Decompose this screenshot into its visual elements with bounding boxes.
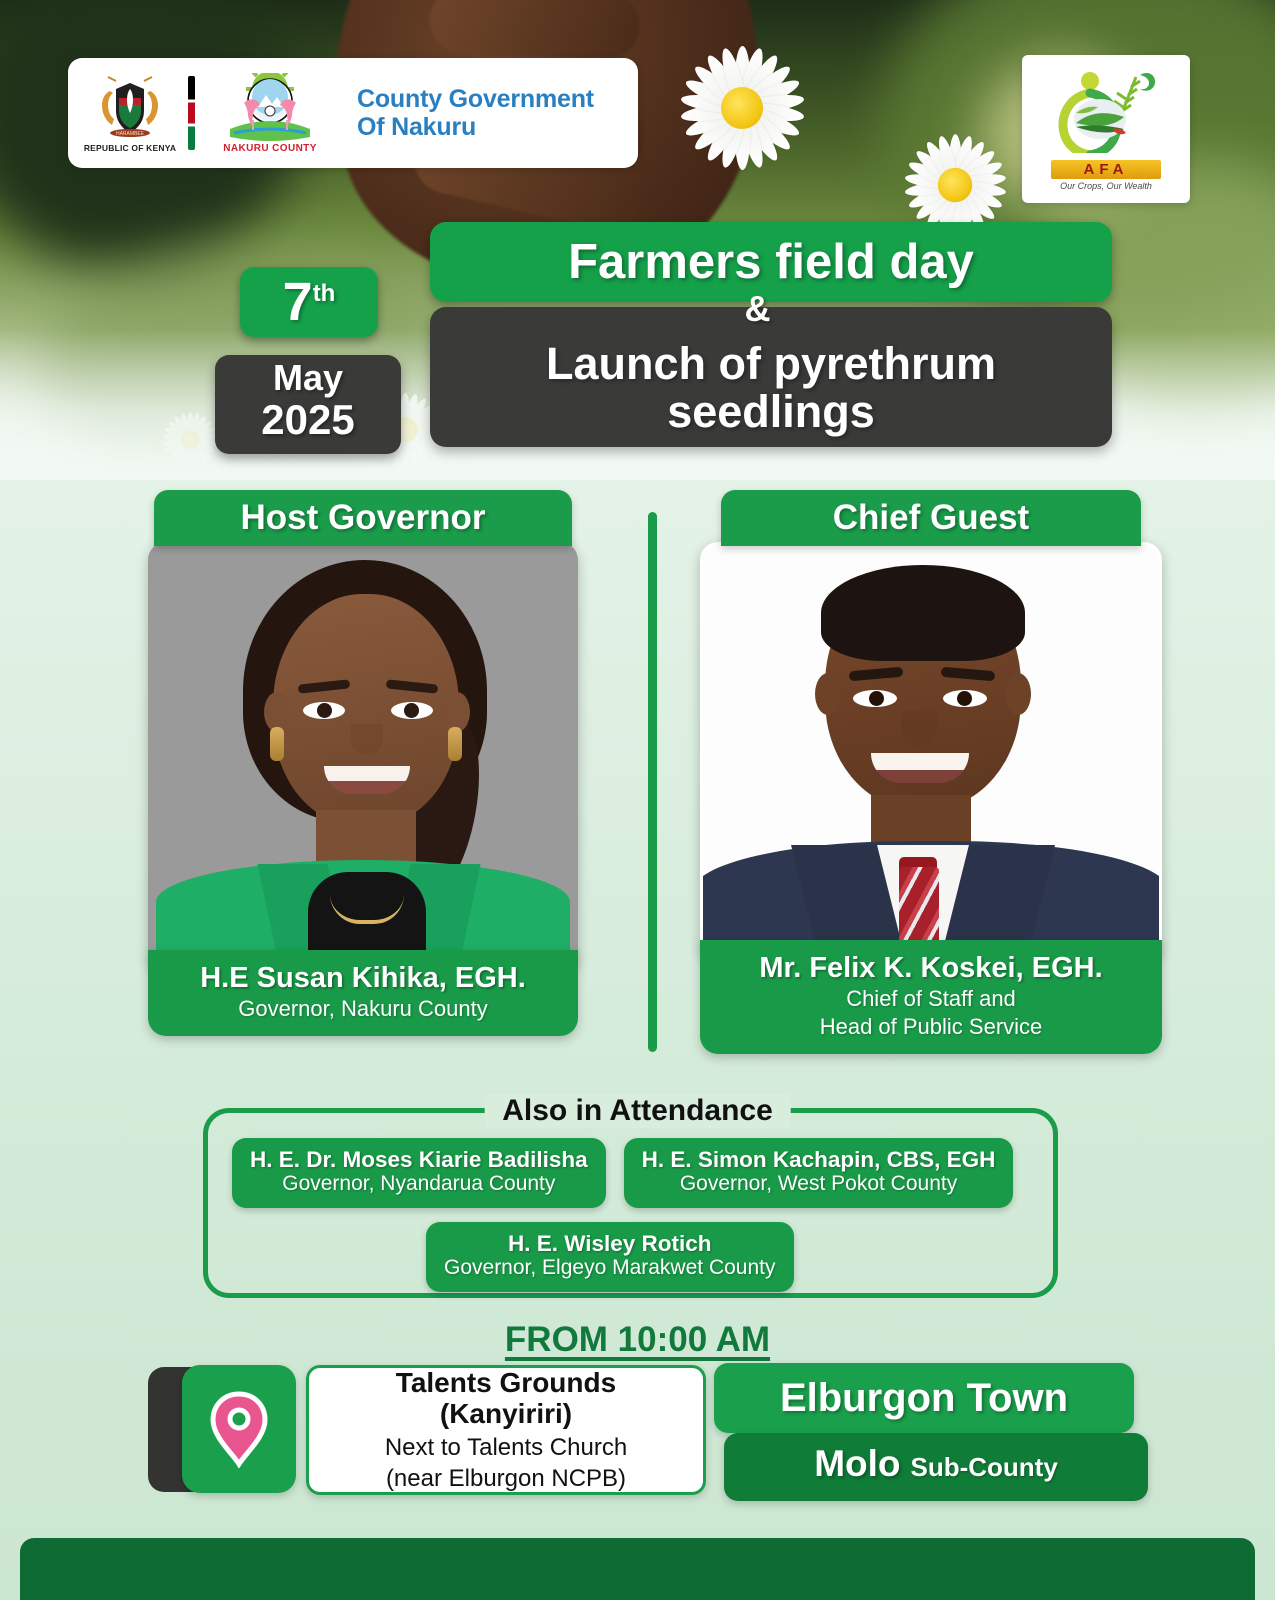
finger-illustration	[429, 0, 641, 60]
flower-petal	[401, 429, 420, 467]
afa-acronym: AFA	[1051, 160, 1161, 179]
flower-petal	[162, 433, 191, 444]
venue-address-card: Talents Grounds (Kanyiriri) Next to Tale…	[306, 1365, 706, 1495]
attendee-name: H. E. Simon Kachapin, CBS, EGH	[642, 1147, 996, 1172]
flower-petal	[179, 439, 193, 468]
ampersand-label: &	[709, 288, 806, 330]
portrait-susan-kihika	[148, 542, 578, 970]
person-name: Mr. Felix K. Koskei, EGH.	[710, 952, 1152, 984]
flower-petal	[163, 437, 191, 455]
flower-petal	[190, 433, 219, 444]
attendance-row-bottom: H. E. Wisley Rotich Governor, Elgeyo Mar…	[426, 1222, 794, 1292]
nakuru-county-emblem: NAKURU COUNTY	[205, 73, 335, 154]
person-name: H.E Susan Kihika, EGH.	[158, 962, 568, 994]
flower-petal	[167, 437, 193, 460]
venue-town: Elburgon Town	[714, 1363, 1134, 1433]
flower-petal	[189, 425, 217, 443]
location-pin-badge	[182, 1365, 296, 1493]
event-day-number: 7	[283, 275, 313, 329]
location-pin-icon	[208, 1390, 270, 1468]
person-title-line2: Head of Public Service	[710, 1014, 1152, 1040]
kenya-flag-divider	[188, 76, 195, 150]
venue-place-line2: (Kanyiriri)	[440, 1398, 572, 1429]
event-title-secondary-line1: Launch of pyrethrum	[546, 340, 996, 389]
venue-near-line1: Next to Talents Church	[385, 1434, 627, 1462]
attendee-name: H. E. Wisley Rotich	[444, 1231, 776, 1256]
afa-tagline: Our Crops, Our Wealth	[1031, 181, 1181, 191]
coat-of-arms-icon: HARAMBEE	[82, 73, 178, 141]
venue-near-line2: (near Elburgon NCPB)	[386, 1465, 626, 1493]
role-label-chief-guest: Chief Guest	[721, 490, 1141, 546]
person-title-line1: Governor, Nakuru County	[158, 996, 568, 1022]
attendee-pill: H. E. Wisley Rotich Governor, Elgeyo Mar…	[426, 1222, 794, 1292]
afa-emblem-icon	[1031, 67, 1181, 158]
flower-petal	[401, 393, 420, 431]
flower-petal	[188, 437, 214, 460]
kenya-coat-of-arms: HARAMBEE REPUBLIC OF KENYA	[82, 73, 178, 153]
also-in-attendance-heading: Also in Attendance	[484, 1094, 791, 1128]
person-card-chief-guest: Chief Guest Mr. Felix K. Koskei, EGH. Ch…	[700, 490, 1162, 1054]
county-government-logo-bar: HARAMBEE REPUBLIC OF KENYA	[68, 58, 638, 168]
person-title-line1: Chief of Staff and	[710, 986, 1152, 1012]
flower-petal	[187, 439, 201, 468]
nameplate-host-governor: H.E Susan Kihika, EGH. Governor, Nakuru …	[148, 950, 578, 1036]
attendee-role: Governor, Nyandarua County	[250, 1172, 588, 1196]
county-government-title: County Government Of Nakuru	[357, 85, 594, 141]
dignitaries-section: Host Governor H.E Susan Kihika, EGH. Gov…	[0, 490, 1275, 1070]
event-date-day-badge: 7 th	[240, 267, 378, 337]
nakuru-emblem-caption: NAKURU COUNTY	[205, 143, 335, 154]
flower-petal	[187, 438, 208, 465]
flower-petal	[167, 419, 193, 442]
flower-petal	[187, 412, 201, 441]
nameplate-chief-guest: Mr. Felix K. Koskei, EGH. Chief of Staff…	[700, 940, 1162, 1054]
venue-subcounty-name: Molo	[814, 1443, 900, 1485]
flower-petal	[187, 440, 194, 468]
flower-petal	[162, 437, 191, 448]
person-card-host-governor: Host Governor H.E Susan Kihika, EGH. Gov…	[148, 490, 578, 1036]
county-government-title-line2: Of Nakuru	[357, 113, 594, 141]
venue-subcounty: Molo Sub-County	[724, 1433, 1148, 1501]
flower-petal	[401, 430, 410, 467]
nakuru-emblem-icon	[205, 73, 335, 143]
flower-petal	[189, 437, 217, 455]
attendee-role: Governor, Elgeyo Marakwet County	[444, 1256, 776, 1280]
footer-bar	[20, 1538, 1255, 1600]
event-date-monthyear-badge: May 2025	[215, 355, 401, 454]
flower-center	[721, 87, 763, 129]
flower-petal	[401, 393, 410, 430]
flower-petal	[172, 438, 193, 465]
afa-logo-box: AFA Our Crops, Our Wealth	[1022, 55, 1190, 203]
role-label-host-governor: Host Governor	[154, 490, 572, 546]
flower-center	[181, 431, 200, 450]
coat-of-arms-caption: REPUBLIC OF KENYA	[82, 143, 178, 153]
flower-petal	[401, 396, 429, 432]
venue-place-line1: Talents Grounds	[396, 1367, 616, 1398]
flower-petal	[187, 412, 194, 440]
flower-petal	[190, 437, 219, 448]
event-start-time: FROM 10:00 AM	[0, 1320, 1275, 1360]
svg-text:HARAMBEE: HARAMBEE	[116, 131, 145, 137]
flower-petal	[163, 425, 191, 443]
attendee-pill: H. E. Dr. Moses Kiarie Badilisha Governo…	[232, 1138, 606, 1208]
venue-section: Talents Grounds (Kanyiriri) Next to Tale…	[148, 1365, 1138, 1500]
event-month: May	[215, 359, 401, 398]
event-year: 2025	[215, 398, 401, 442]
flower-petal	[187, 415, 208, 442]
event-title-secondary-line2: seedlings	[667, 388, 875, 437]
flower-petal	[179, 412, 193, 441]
event-day-ordinal: th	[313, 280, 336, 308]
county-government-title-line1: County Government	[357, 85, 594, 113]
attendance-row-top: H. E. Dr. Moses Kiarie Badilisha Governo…	[232, 1138, 1013, 1208]
flower-center	[938, 168, 972, 202]
portrait-felix-koskei	[700, 542, 1162, 960]
attendee-role: Governor, West Pokot County	[642, 1172, 996, 1196]
flower-petal	[401, 428, 429, 464]
vertical-divider	[648, 512, 657, 1052]
flower-petal	[172, 415, 193, 442]
attendee-pill: H. E. Simon Kachapin, CBS, EGH Governor,…	[624, 1138, 1014, 1208]
flower-petal	[188, 419, 214, 442]
venue-subcounty-label: Sub-County	[911, 1452, 1058, 1483]
attendee-name: H. E. Dr. Moses Kiarie Badilisha	[250, 1147, 588, 1172]
